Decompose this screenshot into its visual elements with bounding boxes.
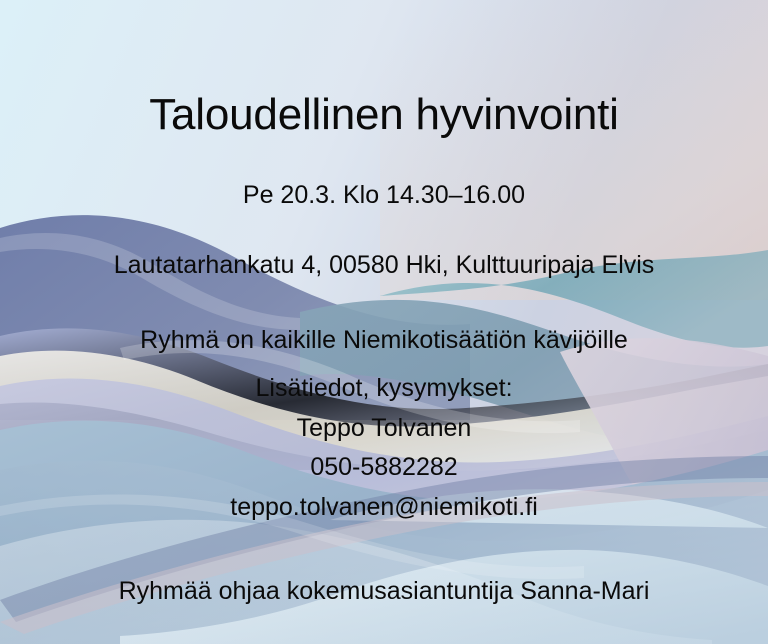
contact-block: Lisätiedot, kysymykset: Teppo Tolvanen 0… bbox=[0, 373, 768, 522]
contact-heading: Lisätiedot, kysymykset: bbox=[0, 373, 768, 404]
event-datetime: Pe 20.3. Klo 14.30–16.00 bbox=[0, 180, 768, 211]
event-facilitator: Ryhmää ohjaa kokemusasiantuntija Sanna-M… bbox=[0, 576, 768, 607]
page-title: Taloudellinen hyvinvointi bbox=[0, 91, 768, 139]
contact-phone: 050-5882282 bbox=[0, 452, 768, 483]
contact-name: Teppo Tolvanen bbox=[0, 413, 768, 444]
event-audience: Ryhmä on kaikille Niemikotisäätiön kävij… bbox=[0, 325, 768, 356]
event-address: Lautatarhankatu 4, 00580 Hki, Kulttuurip… bbox=[0, 250, 768, 281]
poster-content: Taloudellinen hyvinvointi Pe 20.3. Klo 1… bbox=[0, 0, 768, 644]
contact-email: teppo.tolvanen@niemikoti.fi bbox=[0, 492, 768, 523]
poster-canvas: Taloudellinen hyvinvointi Pe 20.3. Klo 1… bbox=[0, 0, 768, 644]
